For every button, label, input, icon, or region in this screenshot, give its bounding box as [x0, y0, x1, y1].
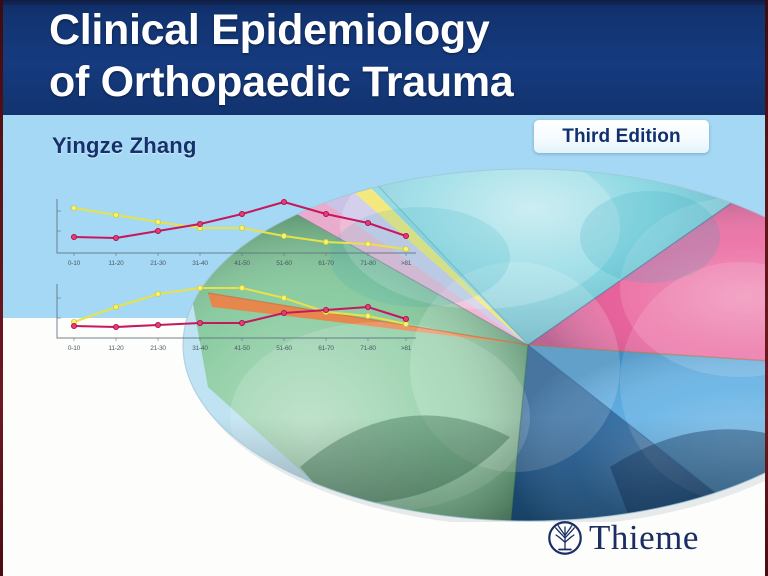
edition-badge: Third Edition	[534, 120, 709, 153]
page-title: Clinical Epidemiology of Orthopaedic Tra…	[49, 4, 749, 108]
left-edge-border	[0, 0, 3, 576]
svg-text:>81: >81	[401, 260, 412, 267]
series-magenta-line	[74, 202, 406, 238]
svg-text:21-30: 21-30	[150, 260, 166, 267]
svg-text:0-10: 0-10	[68, 345, 81, 352]
book-cover: 0-10 11-20 21-30 31-40 41-50 51-60 61-70…	[0, 0, 768, 576]
svg-text:41-50: 41-50	[234, 345, 250, 352]
svg-text:31-40: 31-40	[192, 345, 208, 352]
edition-badge-label: Third Edition	[562, 126, 680, 148]
svg-text:61-70: 61-70	[318, 345, 334, 352]
upper-line-chart: 0-10 11-20 21-30 31-40 41-50 51-60 61-70…	[44, 195, 424, 270]
svg-text:61-70: 61-70	[318, 260, 334, 267]
author-name: Yingze Zhang	[52, 133, 197, 159]
title-line-2: of Orthopaedic Trauma	[49, 56, 749, 108]
lower-line-chart: 0-10 11-20 21-30 31-40 41-50 51-60 61-70…	[44, 282, 424, 354]
svg-text:71-80: 71-80	[360, 345, 376, 352]
svg-text:0-10: 0-10	[68, 260, 81, 267]
tree-in-circle-icon	[548, 521, 582, 555]
svg-text:41-50: 41-50	[234, 260, 250, 267]
svg-text:11-20: 11-20	[108, 345, 124, 352]
svg-text:51-60: 51-60	[276, 260, 292, 267]
svg-text:21-30: 21-30	[150, 345, 166, 352]
svg-text:71-80: 71-80	[360, 260, 376, 267]
x-axis-tick-labels: 0-10 11-20 21-30 31-40 41-50 51-60 61-70…	[68, 345, 412, 352]
publisher-logo: Thieme	[548, 521, 699, 555]
series-yellow-line	[74, 288, 406, 324]
publisher-name: Thieme	[589, 521, 699, 555]
svg-text:51-60: 51-60	[276, 345, 292, 352]
svg-text:11-20: 11-20	[108, 260, 124, 267]
svg-text:31-40: 31-40	[192, 260, 208, 267]
title-line-1: Clinical Epidemiology	[49, 4, 749, 56]
svg-text:>81: >81	[401, 345, 412, 352]
x-axis-tick-labels: 0-10 11-20 21-30 31-40 41-50 51-60 61-70…	[68, 260, 412, 267]
